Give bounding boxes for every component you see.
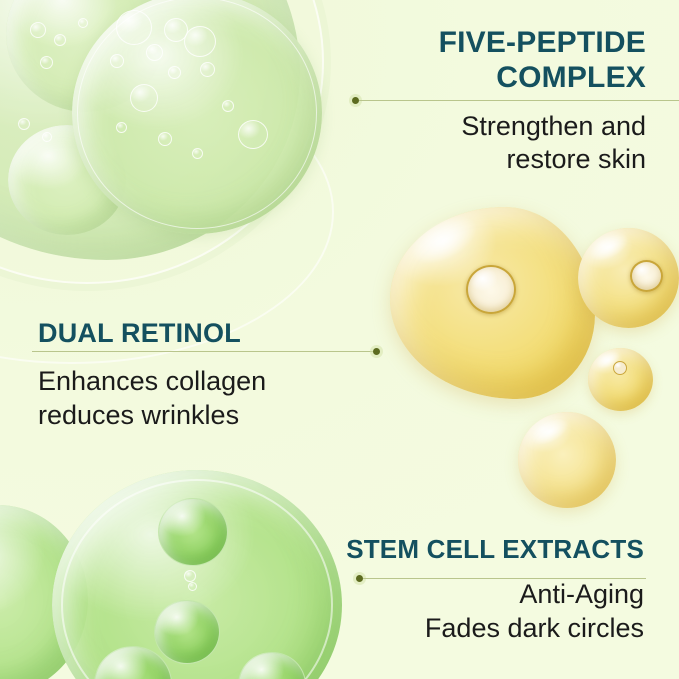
feature-five-peptide-complex: FIVE-PEPTIDE COMPLEX Strengthen and rest…: [340, 26, 646, 177]
feature-heading: STEM CELL EXTRACTS: [340, 534, 644, 564]
micro-bubble-icon: [192, 148, 203, 159]
infographic-canvas: FIVE-PEPTIDE COMPLEX Strengthen and rest…: [0, 0, 679, 679]
feature-heading-line: FIVE-PEPTIDE: [439, 26, 646, 59]
micro-bubble-icon: [168, 66, 181, 79]
feature-body-line: restore skin: [506, 144, 646, 174]
highlight-gloss: [593, 348, 623, 373]
micro-bubble-icon: [54, 34, 66, 46]
cluster-bubble-center: [154, 600, 220, 664]
micro-bubble-icon: [200, 62, 215, 77]
feature-heading-line: DUAL RETINOL: [38, 318, 241, 348]
micro-bubble-icon: [188, 582, 197, 591]
micro-bubble-icon: [184, 26, 216, 57]
micro-bubble-icon: [116, 122, 127, 133]
feature-heading: FIVE-PEPTIDE COMPLEX: [340, 26, 646, 96]
gel-bubble-field-top: [0, 0, 300, 200]
micro-bubble-icon: [238, 120, 268, 149]
feature-body-line: Strengthen and: [461, 111, 646, 141]
micro-bubble-icon: [110, 54, 124, 68]
feature-body: Anti-Aging Fades dark circles: [340, 578, 644, 645]
green-gel-bubble-small: [8, 125, 126, 235]
serum-droplet-large: [390, 207, 595, 399]
green-gel-bubble-large: [72, 0, 322, 234]
cluster-bubble-bottom-right: [238, 652, 306, 679]
pearl-bead-icon: [466, 265, 516, 314]
cluster-bubble-bottom-left: [94, 646, 172, 679]
feature-heading-line: COMPLEX: [496, 61, 646, 94]
feature-heading: DUAL RETINOL: [38, 318, 368, 349]
feature-heading-line: STEM CELL EXTRACTS: [346, 534, 644, 564]
highlight-gloss: [585, 227, 632, 266]
highlight-gloss: [403, 206, 484, 273]
cluster-bubble-top: [158, 498, 228, 566]
micro-bubble-icon: [184, 570, 196, 582]
serum-droplet-small: [588, 348, 653, 411]
feature-body-line: Fades dark circles: [425, 613, 644, 643]
micro-bubble-icon: [222, 100, 234, 112]
petri-dish-rim-icon: [0, 0, 324, 284]
micro-bubble-icon: [42, 132, 52, 142]
green-bubble-cluster: [52, 470, 342, 679]
feature-body-line: reduces wrinkles: [38, 400, 239, 430]
feature-stem-cell-extracts: STEM CELL EXTRACTS Anti-Aging Fades dark…: [340, 534, 644, 645]
micro-bubble-icon: [78, 18, 88, 28]
highlight-gloss: [527, 413, 572, 450]
feature-body: Strengthen and restore skin: [340, 110, 646, 177]
micro-bubble-icon: [146, 44, 163, 61]
green-gel-pool: [0, 0, 300, 260]
feature-body-line: Enhances collagen: [38, 366, 266, 396]
micro-bubble-icon: [30, 22, 46, 38]
connector-dot: [373, 348, 380, 355]
micro-bubble-icon: [164, 18, 188, 42]
micro-bubble-icon: [40, 56, 53, 69]
micro-bubble-icon: [130, 84, 158, 112]
feature-body-line: Anti-Aging: [519, 579, 644, 609]
feature-body: Enhances collagen reduces wrinkles: [38, 365, 368, 432]
micro-bubble-icon: [158, 132, 172, 146]
feature-dual-retinol: DUAL RETINOL Enhances collagen reduces w…: [38, 318, 368, 432]
green-bubble-edge: [0, 505, 88, 679]
pearl-bead-small-icon: [613, 361, 627, 375]
serum-droplet-medium: [578, 228, 679, 328]
pearl-bead-icon: [630, 260, 663, 292]
serum-droplet-bottom: [518, 412, 616, 508]
micro-bubble-icon: [18, 118, 30, 130]
micro-bubble-icon: [116, 10, 152, 45]
green-gel-bubble-top-left: [6, 0, 166, 112]
